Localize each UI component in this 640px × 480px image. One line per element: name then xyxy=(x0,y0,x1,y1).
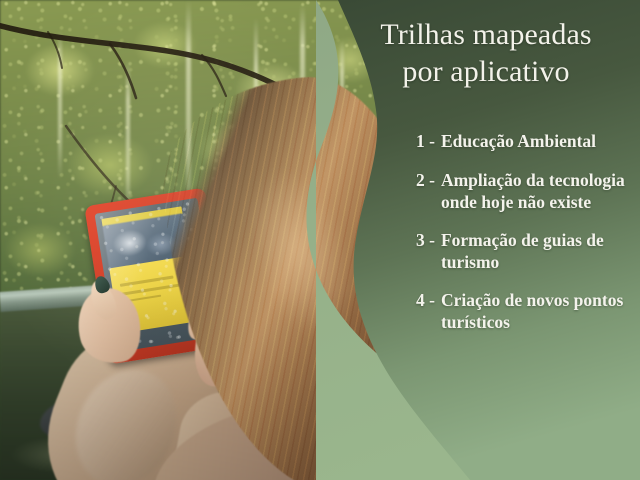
list-item-number: 1 - xyxy=(416,130,441,152)
list-item: 1 - Educação Ambiental xyxy=(416,130,640,152)
list-item-number: 3 - xyxy=(416,229,441,273)
list-item-text: Educação Ambiental xyxy=(441,130,640,152)
slide-canvas: Trilhas mapeadas por aplicativo 1 - Educ… xyxy=(0,0,640,480)
list-item-number: 4 - xyxy=(416,289,441,333)
list-item: 2 - Ampliação da tecnologia onde hoje nã… xyxy=(416,169,640,213)
title-line-1: Trilhas mapeadas xyxy=(338,17,634,54)
title-line-2: por aplicativo xyxy=(338,54,634,91)
list-item-text: Ampliação da tecnologia onde hoje não ex… xyxy=(441,169,640,213)
list-item: 3 - Formação de guias de turismo xyxy=(416,229,640,273)
list-item-text: Criação de novos pontos turísticos xyxy=(441,289,640,333)
list-item-text: Formação de guias de turismo xyxy=(441,229,640,273)
text-content: Trilhas mapeadas por aplicativo 1 - Educ… xyxy=(330,0,640,480)
slide-title: Trilhas mapeadas por aplicativo xyxy=(338,17,634,90)
list-item: 4 - Criação de novos pontos turísticos xyxy=(416,289,640,333)
list-item-number: 2 - xyxy=(416,169,441,213)
benefits-list: 1 - Educação Ambiental 2 - Ampliação da … xyxy=(416,130,640,348)
tree-branch-icon xyxy=(0,6,340,40)
